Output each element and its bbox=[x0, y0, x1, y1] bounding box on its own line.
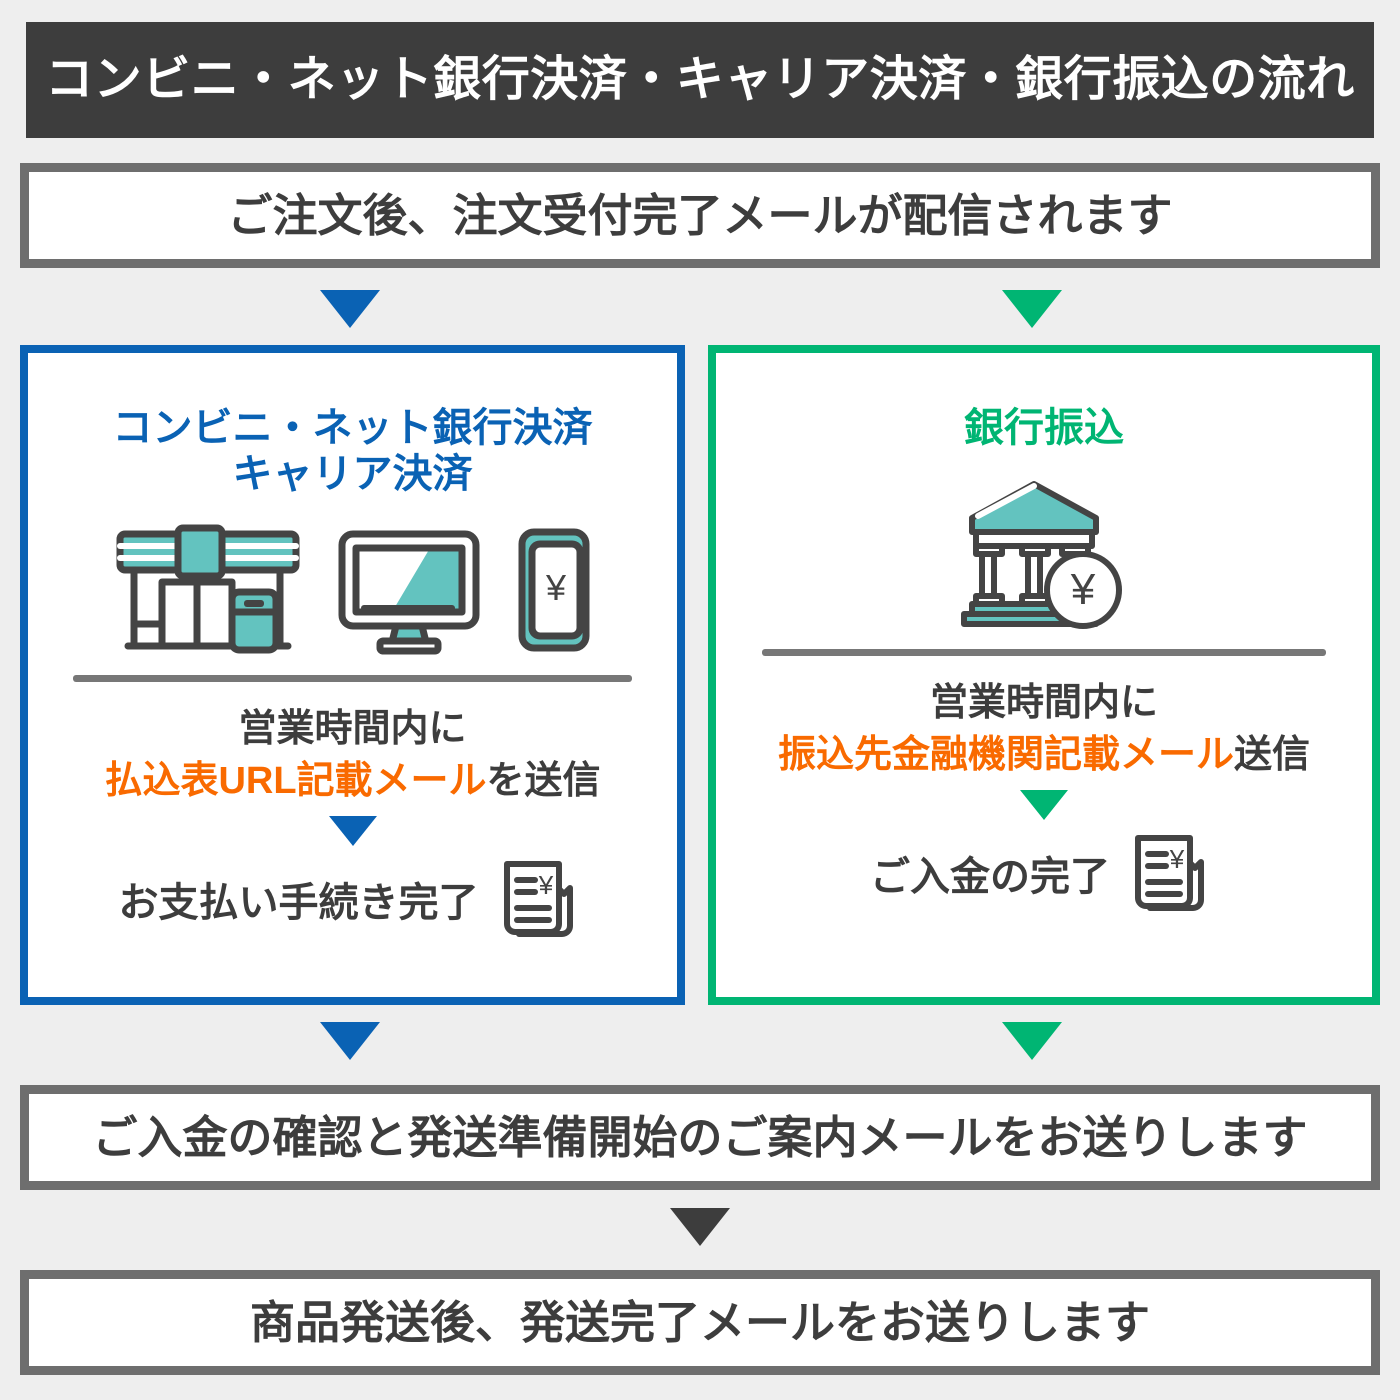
invoice-receipt-icon: ¥ bbox=[1126, 832, 1218, 921]
arrow-down-conveni-step-icon bbox=[329, 816, 377, 846]
panel-bank-done-row: ご入金の完了 ¥ bbox=[716, 832, 1372, 921]
panel-conveni-done-row: お支払い手続き完了 ¥ bbox=[28, 858, 677, 947]
panel-conveni-send-suffix: を送信 bbox=[487, 760, 601, 802]
invoice-receipt-icon: ¥ bbox=[495, 858, 587, 947]
panel-conveni-title: コンビニ・ネット銀行決済 キャリア決済 bbox=[28, 405, 677, 497]
panel-bank-send-suffix: 送信 bbox=[1234, 734, 1310, 776]
panel-bank-send-line1: 営業時間内に bbox=[716, 684, 1372, 722]
diagram-title: コンビニ・ネット銀行決済・キャリア決済・銀行振込の流れ bbox=[45, 56, 1355, 104]
step-order-confirmation-label: ご注文後、注文受付完了メールが配信されます bbox=[227, 193, 1172, 238]
panel-conveni-send-line1: 営業時間内に bbox=[28, 710, 677, 748]
arrow-down-from-bank-icon bbox=[1002, 1022, 1062, 1060]
panel-conveni-mid-arrow bbox=[28, 816, 677, 846]
svg-text:¥: ¥ bbox=[1169, 844, 1185, 874]
step-payment-confirmed-box: ご入金の確認と発送準備開始のご案内メールをお送りします bbox=[20, 1085, 1380, 1190]
panel-bank-transfer: 銀行振込 bbox=[708, 345, 1380, 1005]
panel-conveni-payment: コンビニ・ネット銀行決済 キャリア決済 bbox=[20, 345, 685, 1005]
step-payment-confirmed-label: ご入金の確認と発送準備開始のご案内メールをお送りします bbox=[92, 1115, 1307, 1160]
panel-bank-title: 銀行振込 bbox=[716, 405, 1372, 451]
panel-bank-icon-row: ¥ bbox=[716, 485, 1372, 635]
svg-text:¥: ¥ bbox=[1070, 565, 1096, 614]
svg-text:¥: ¥ bbox=[537, 870, 553, 900]
step-shipped-box: 商品発送後、発送完了メールをお送りします bbox=[20, 1270, 1380, 1375]
desktop-monitor-icon bbox=[334, 524, 484, 661]
arrow-down-from-conveni-icon bbox=[320, 1022, 380, 1060]
panel-bank-done-label: ご入金の完了 bbox=[870, 857, 1110, 897]
panel-bank-mid-arrow bbox=[716, 790, 1372, 820]
arrow-down-to-conveni-icon bbox=[320, 290, 380, 328]
panel-bank-send-line2: 振込先金融機関記載メール送信 bbox=[716, 736, 1372, 774]
panel-bank-divider bbox=[762, 649, 1326, 656]
panel-conveni-done-label: お支払い手続き完了 bbox=[119, 883, 479, 923]
step-shipped-label: 商品発送後、発送完了メールをお送りします bbox=[250, 1300, 1150, 1345]
arrow-down-to-shipped-icon bbox=[670, 1208, 730, 1246]
arrow-down-to-bank-icon bbox=[1002, 290, 1062, 328]
panel-bank-send-highlight: 振込先金融機関記載メール bbox=[778, 734, 1234, 776]
bank-building-yen-icon: ¥ bbox=[958, 480, 1130, 635]
svg-text:¥: ¥ bbox=[544, 567, 566, 608]
panel-conveni-icon-row: ¥ bbox=[28, 511, 677, 661]
convenience-store-icon bbox=[108, 524, 308, 661]
arrow-down-bank-step-icon bbox=[1020, 790, 1068, 820]
panel-conveni-divider bbox=[73, 675, 631, 682]
diagram-title-bar: コンビニ・ネット銀行決済・キャリア決済・銀行振込の流れ bbox=[26, 22, 1374, 138]
smartphone-yen-icon: ¥ bbox=[510, 524, 598, 661]
payment-flow-diagram: コンビニ・ネット銀行決済・キャリア決済・銀行振込の流れ ご注文後、注文受付完了メ… bbox=[0, 0, 1400, 1400]
panel-conveni-send-highlight: 払込表URL記載メール bbox=[104, 760, 486, 802]
step-order-confirmation-box: ご注文後、注文受付完了メールが配信されます bbox=[20, 163, 1380, 268]
panel-conveni-send-line2: 払込表URL記載メールを送信 bbox=[28, 762, 677, 800]
